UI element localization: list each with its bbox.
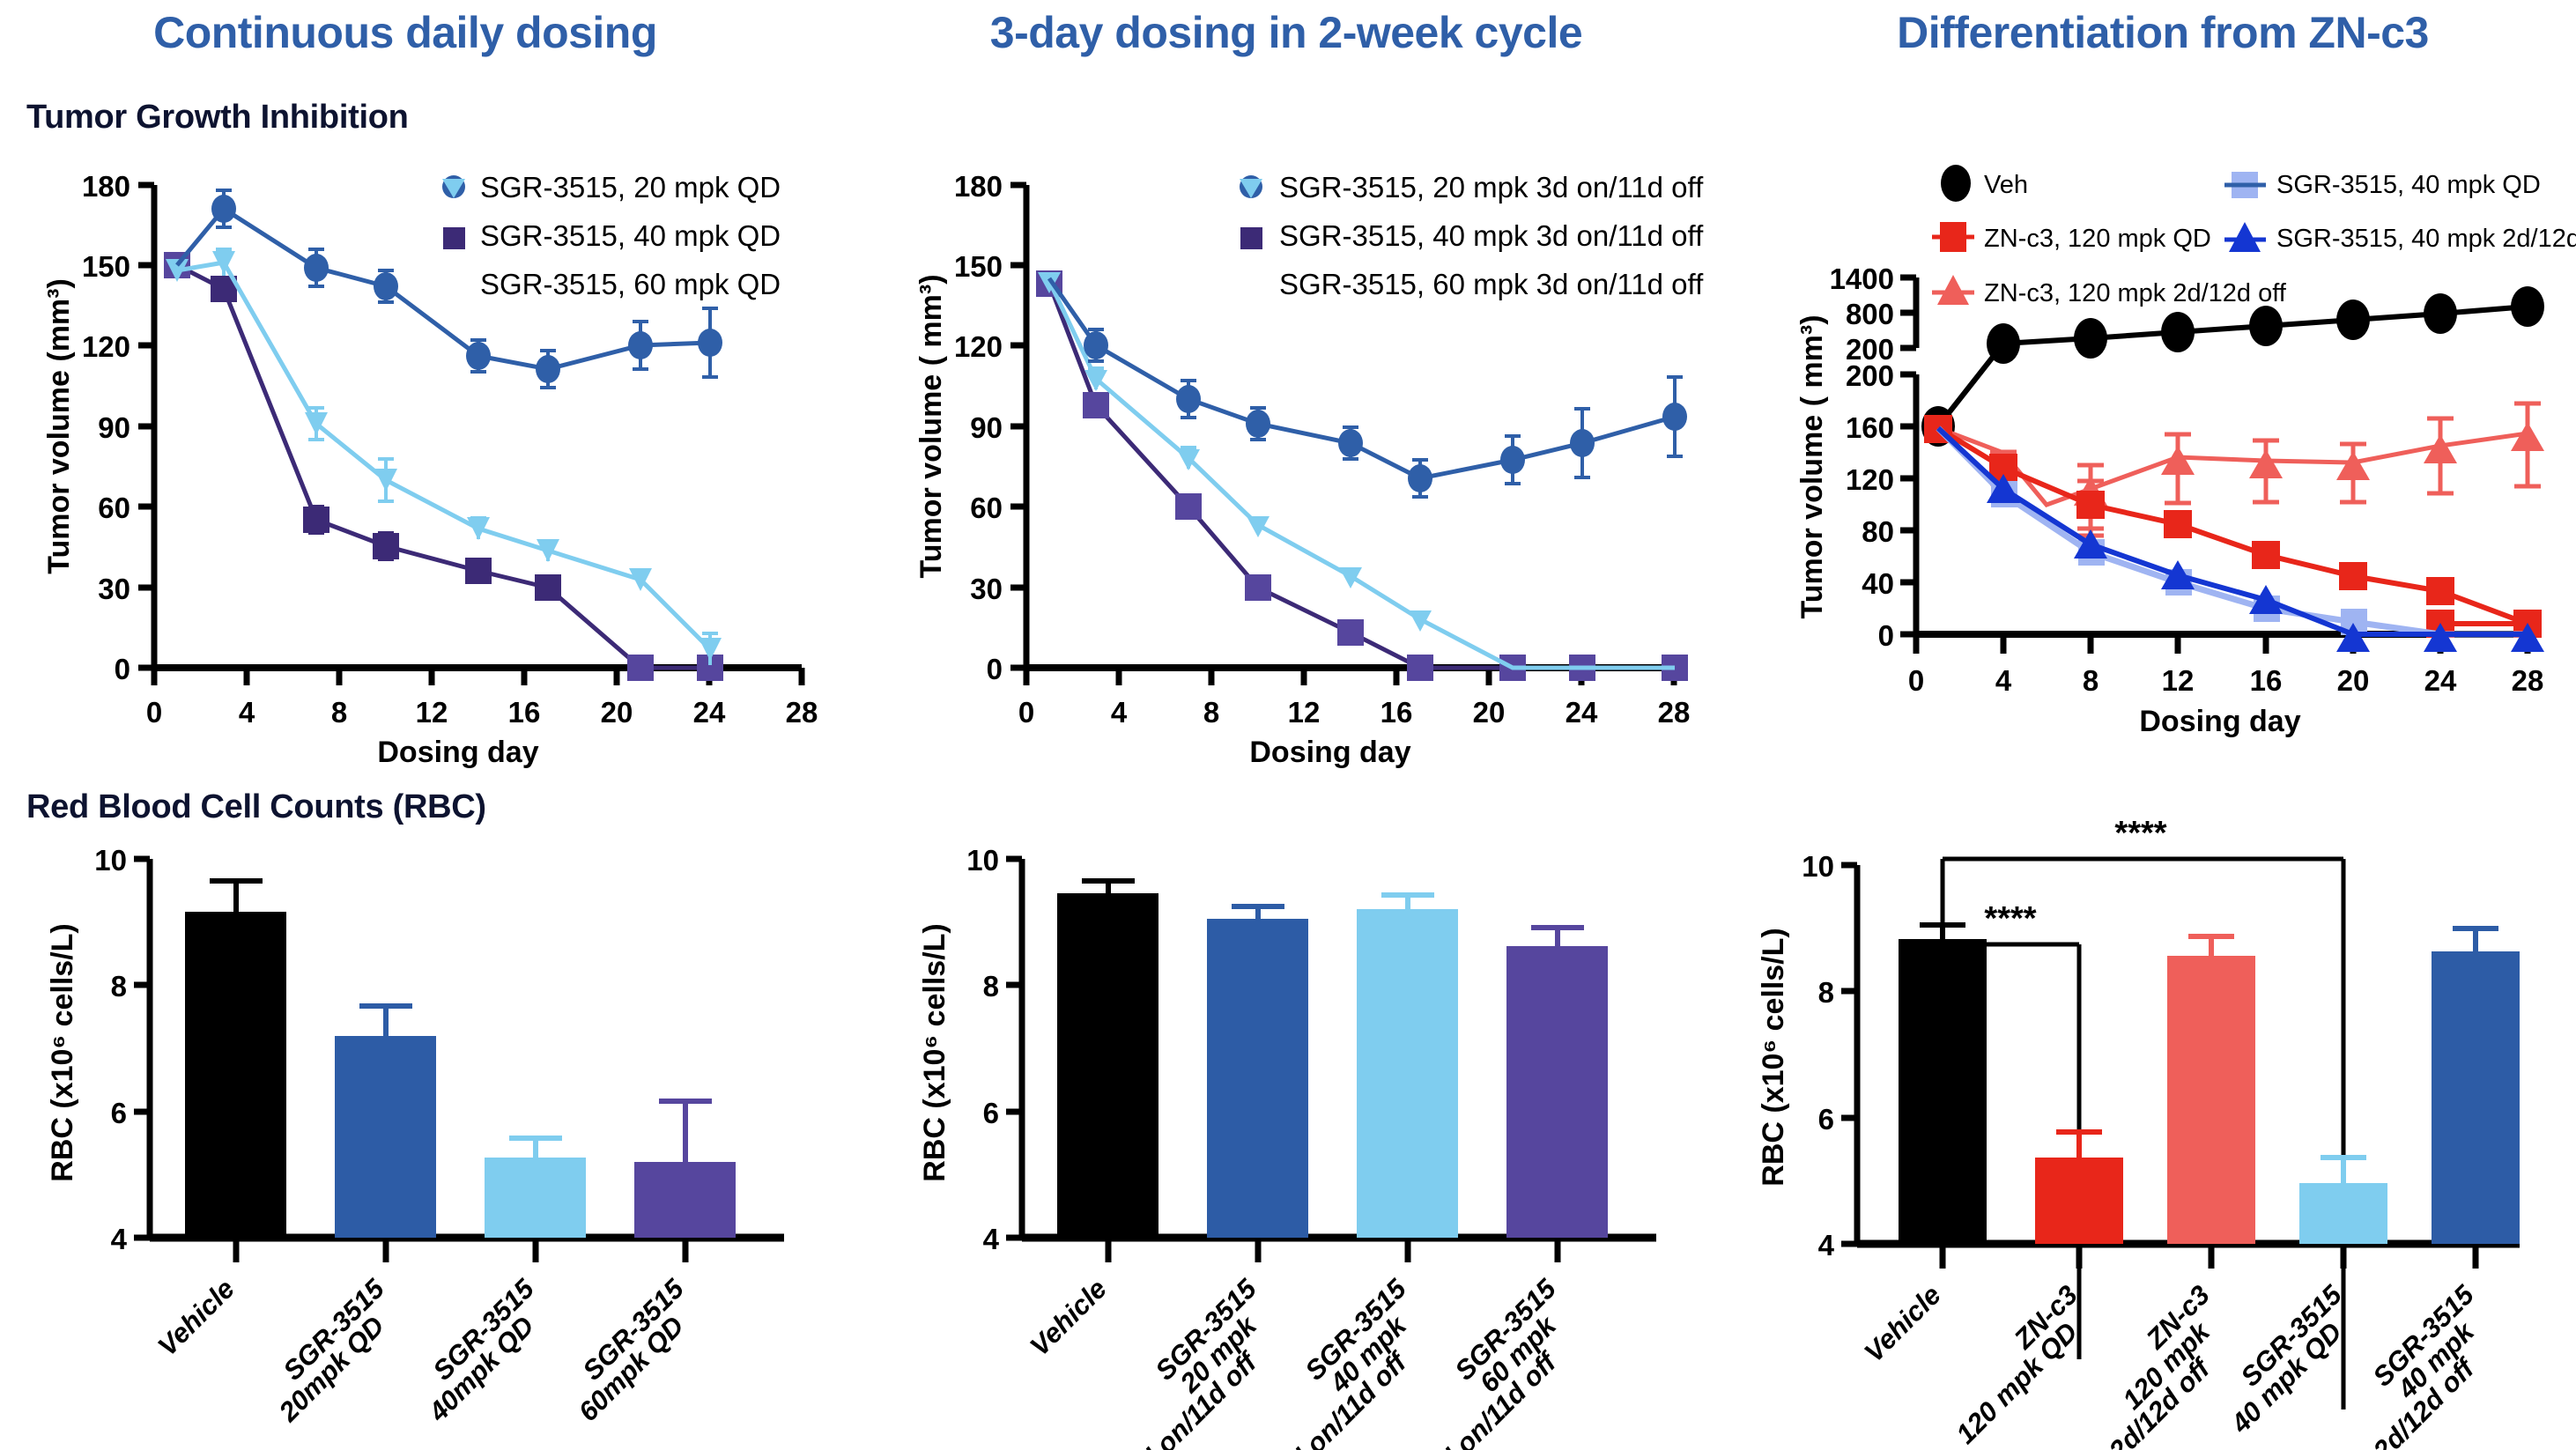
ytick-label: 10: [1802, 850, 1834, 883]
significance-annotations: **** ****: [1943, 815, 2343, 1409]
legend-item-sgr40-qd[interactable]: SGR-3515, 40 mpk QD: [2224, 171, 2541, 199]
ytick-label: 90: [970, 411, 1003, 444]
xtick-label: 12: [416, 696, 448, 729]
xtick-label: 0: [1908, 664, 1924, 697]
series-znc3-qd: [1924, 415, 2542, 638]
ytick-label: 160: [1846, 411, 1894, 444]
xtick-label: 8: [331, 696, 347, 729]
bar-sgr60[interactable]: [634, 1101, 736, 1238]
ytick-label: 10: [966, 844, 999, 877]
ytick-label: 120: [1846, 463, 1894, 496]
bar-sgr40-qd[interactable]: [2299, 1158, 2387, 1244]
legend-item-sgr40-2d[interactable]: SGR-3515, 40 mpk 2d/12d off: [2224, 222, 2576, 253]
ytick-label: 6: [983, 1097, 999, 1129]
xtick-label: 4: [239, 696, 255, 729]
legend-label: SGR-3515, 20 mpk 3d on/11d off: [1279, 171, 1704, 203]
chart-rbc-3day: 10 8 6 4 RBC (x10⁶ cells/L): [890, 841, 1727, 1449]
legend: Veh ZN-c3, 120 mpk QD ZN-c3, 120 mpk 2d/…: [1932, 165, 2576, 307]
ytick-label-upper: 800: [1846, 298, 1894, 330]
bar-sgr40-3d[interactable]: [1357, 895, 1458, 1238]
bar-sgr40[interactable]: [485, 1138, 586, 1238]
y-axis-title: RBC (x10⁶ cells/L): [1757, 928, 1790, 1186]
legend-item-0[interactable]: SGR-3515, 20 mpk QD: [442, 171, 781, 203]
y-axis-title: RBC (x10⁶ cells/L): [46, 923, 79, 1181]
xtick-label: 20: [601, 696, 633, 729]
ytick-label: 30: [98, 573, 130, 605]
xtick-label: 8: [2083, 664, 2099, 697]
chart-tgi-continuous: 180 150 120 90 60 30 0 0 4 8 12 16 20 24…: [18, 150, 855, 766]
figure-root: Continuous daily dosing 3-day dosing in …: [0, 0, 2576, 1450]
legend-label: SGR-3515, 40 mpk 2d/12d off: [2276, 225, 2576, 253]
bar-sgr20-3d[interactable]: [1207, 906, 1308, 1238]
ytick-label: 0: [1878, 619, 1894, 652]
bar-sgr20[interactable]: [335, 1006, 436, 1238]
x-axis-title: Dosing day: [377, 736, 538, 769]
bar-znc3-qd[interactable]: [2035, 1132, 2123, 1244]
series-sgr40-qd: [166, 249, 722, 665]
legend-label: SGR-3515, 40 mpk QD: [2276, 171, 2541, 199]
cat-label: Vehicle: [1024, 1273, 1113, 1362]
xtick-label: 24: [1566, 696, 1598, 729]
ytick-label: 150: [82, 250, 130, 283]
ytick-label: 30: [970, 573, 1003, 605]
sig-label: ****: [1984, 900, 2036, 937]
legend-label: SGR-3515, 60 mpk QD: [480, 268, 781, 300]
chart-tgi-3day: 180 150 120 90 60 30 0 0 4 8 12 16 20 24…: [890, 150, 1727, 766]
xtick-label: 0: [1018, 696, 1034, 729]
ytick-label: 180: [954, 170, 1003, 203]
row-title-tgi: Tumor Growth Inhibition: [26, 99, 409, 137]
xtick-label: 20: [2337, 664, 2370, 697]
ytick-label: 4: [1818, 1229, 1835, 1261]
ytick-label: 80: [1862, 515, 1894, 548]
cat-label: Vehicle: [1858, 1279, 1947, 1368]
series-sgr40-3d: [1038, 272, 1675, 668]
xtick-label: 8: [1203, 696, 1219, 729]
xtick-label: 24: [2424, 664, 2457, 697]
legend-label: SGR-3515, 60 mpk 3d on/11d off: [1279, 268, 1704, 300]
cat-label: Vehicle: [152, 1273, 241, 1362]
column-title-3: Differentiation from ZN-c3: [1753, 7, 2572, 58]
y-axis-title: RBC (x10⁶ cells/L): [918, 923, 951, 1181]
ytick-label: 8: [111, 970, 127, 1002]
series-sgr20-3d: [1049, 278, 1687, 497]
legend-label: ZN-c3, 120 mpk 2d/12d off: [1984, 279, 2287, 307]
bar-sgr60-3d[interactable]: [1506, 928, 1608, 1238]
axes: [138, 185, 802, 685]
xtick-label: 20: [1473, 696, 1506, 729]
bar-sgr40-2d12d[interactable]: [2432, 928, 2520, 1244]
ytick-label-upper: 1400: [1830, 263, 1894, 295]
bar-znc3-2d12d[interactable]: [2167, 936, 2255, 1244]
y-axis-title: Tumor volume ( mm³): [914, 274, 948, 578]
ytick-label: 4: [111, 1223, 128, 1255]
ytick-label: 120: [82, 330, 130, 363]
xtick-label: 28: [1658, 696, 1691, 729]
ytick-label: 8: [1818, 976, 1834, 1009]
bar-vehicle[interactable]: [1057, 881, 1158, 1238]
ytick-label: 90: [98, 411, 130, 444]
legend-label: SGR-3515, 20 mpk QD: [480, 171, 781, 203]
xtick-label: 16: [508, 696, 541, 729]
ytick-label: 0: [987, 653, 1003, 685]
ytick-label: 150: [954, 250, 1003, 283]
ytick-label: 10: [94, 844, 127, 877]
chart-rbc-differentiation: **** ****: [1753, 793, 2576, 1450]
xtick-label: 16: [1381, 696, 1413, 729]
ytick-label: 40: [1862, 567, 1894, 600]
ytick-label: 60: [970, 492, 1003, 524]
x-axis-title: Dosing day: [2139, 705, 2300, 738]
xtick-label: 4: [1995, 664, 2012, 697]
ytick-label: 6: [111, 1097, 127, 1129]
legend-item-znc3-2d[interactable]: ZN-c3, 120 mpk 2d/12d off: [1932, 275, 2287, 307]
series-sgr60-qd: [164, 252, 723, 681]
ytick-label: 200: [1846, 359, 1894, 392]
legend: SGR-3515, 20 mpk QD SGR-3515, 40 mpk QD …: [442, 171, 781, 300]
column-title-1: Continuous daily dosing: [0, 7, 811, 58]
ytick-label: 6: [1818, 1103, 1834, 1136]
ytick-label: 0: [115, 653, 130, 685]
y-axis-title: Tumor volume ( mm³): [1795, 314, 1829, 618]
bar-vehicle[interactable]: [185, 881, 286, 1238]
xtick-label: 28: [2512, 664, 2544, 697]
ytick-label: 8: [983, 970, 999, 1002]
ytick-label: 180: [82, 170, 130, 203]
legend-label: ZN-c3, 120 mpk QD: [1984, 225, 2211, 253]
legend: SGR-3515, 20 mpk 3d on/11d off SGR-3515,…: [1240, 171, 1704, 300]
legend-item-0[interactable]: SGR-3515, 20 mpk 3d on/11d off: [1240, 171, 1704, 203]
row-title-rbc: Red Blood Cell Counts (RBC): [26, 788, 486, 826]
xtick-label: 4: [1111, 696, 1128, 729]
legend-item-veh[interactable]: Veh: [1941, 165, 2028, 202]
chart-rbc-continuous: 10 8 6 4 RBC (x10⁶ cells/L): [18, 841, 855, 1449]
xtick-label: 12: [1288, 696, 1321, 729]
legend-label: SGR-3515, 40 mpk QD: [480, 219, 781, 252]
legend-label: SGR-3515, 40 mpk 3d on/11d off: [1279, 219, 1704, 252]
column-title-2: 3-day dosing in 2-week cycle: [881, 7, 1691, 58]
xtick-label: 16: [2250, 664, 2283, 697]
y-axis-title: Tumor volume (mm³): [42, 278, 76, 574]
bar-vehicle[interactable]: [1899, 925, 1987, 1244]
legend-item-znc3-qd[interactable]: ZN-c3, 120 mpk QD: [1932, 222, 2211, 253]
sig-label: ****: [2114, 815, 2166, 852]
xtick-label: 24: [693, 696, 726, 729]
axes-upper: [1900, 277, 1916, 348]
chart-tgi-differentiation: Veh ZN-c3, 120 mpk QD ZN-c3, 120 mpk 2d/…: [1744, 159, 2576, 766]
series-znc3-2d12d: [1938, 403, 2544, 536]
legend-label: Veh: [1984, 171, 2028, 199]
ytick-label: 4: [983, 1223, 1000, 1255]
series-veh: [1921, 286, 2544, 447]
ytick-label: 120: [954, 330, 1003, 363]
x-axis-title: Dosing day: [1249, 736, 1410, 769]
xtick-label: 28: [786, 696, 818, 729]
xtick-label: 0: [146, 696, 162, 729]
ytick-label: 60: [98, 492, 130, 524]
xtick-label: 12: [2162, 664, 2195, 697]
